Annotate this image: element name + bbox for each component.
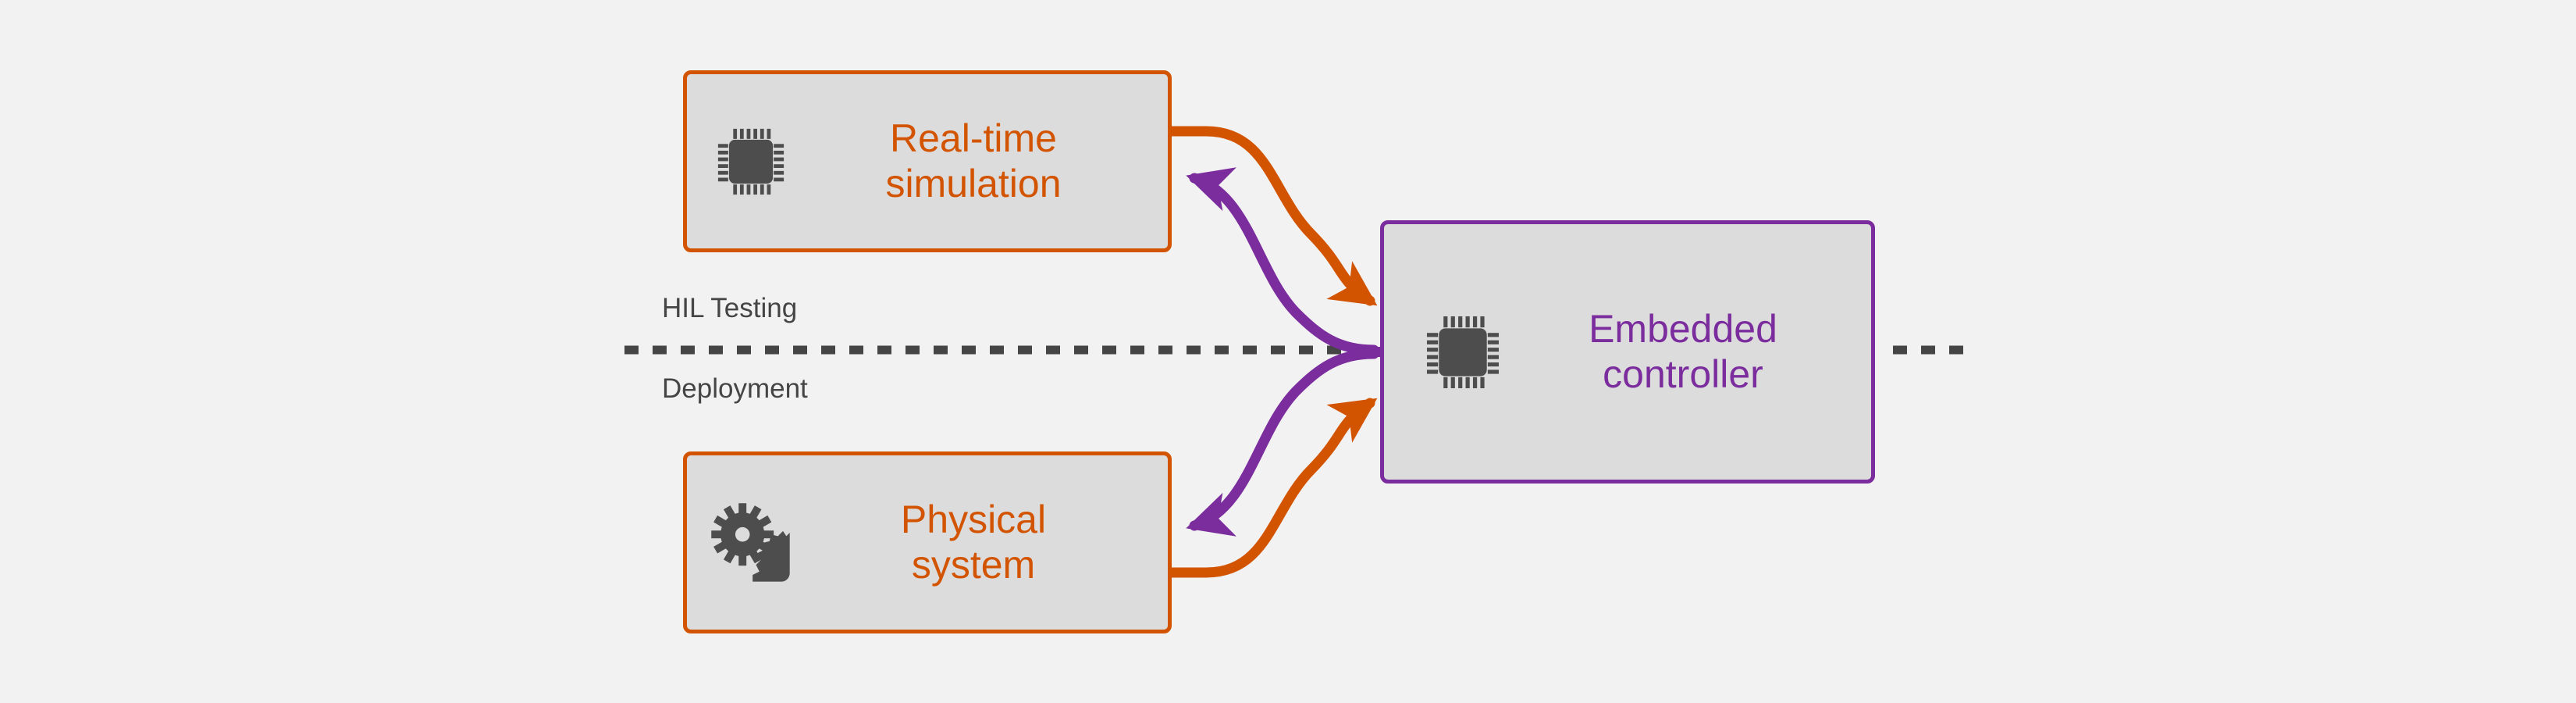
node-realtime-simulation-label: Real-time simulation — [793, 116, 1168, 206]
node-realtime-simulation[interactable]: Real-time simulation — [683, 70, 1172, 252]
node-embedded-controller[interactable]: Embedded controller — [1380, 220, 1875, 484]
node-physical-system[interactable]: Physical system — [683, 451, 1172, 633]
diagram-canvas: Real-time simulation — [0, 0, 2576, 703]
divider-caption-hil-testing: HIL Testing — [662, 293, 797, 324]
node-embedded-controller-label: Embedded controller — [1509, 307, 1871, 397]
microchip-icon — [709, 120, 793, 204]
divider-caption-deployment: Deployment — [662, 373, 808, 405]
gears-icon — [709, 501, 793, 585]
edges-layer — [0, 0, 2576, 703]
node-physical-system-label: Physical system — [793, 498, 1168, 587]
microchip-icon — [1417, 306, 1509, 398]
